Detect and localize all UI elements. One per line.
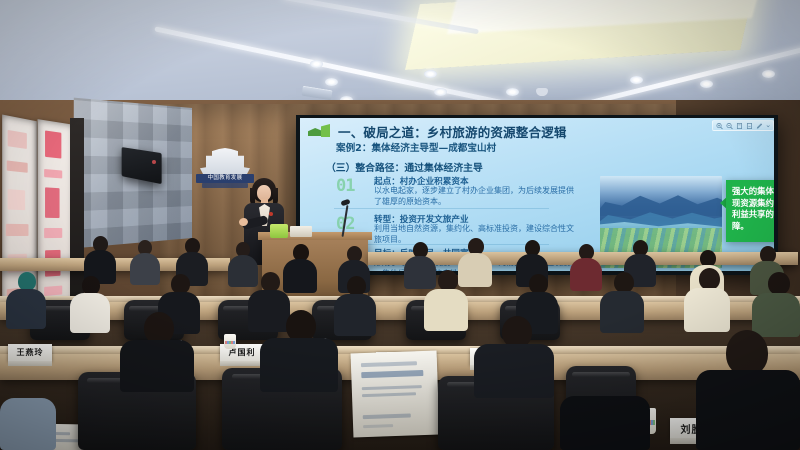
slide-section-heading: （三）整合路径：通过集体经济主导 <box>326 160 483 174</box>
downlight-icon <box>424 70 437 78</box>
downlight-icon <box>700 80 713 88</box>
attendee-foreground <box>120 312 194 386</box>
pen-icon[interactable] <box>756 122 763 130</box>
downlight-icon <box>762 70 775 78</box>
downlight-icon <box>434 88 447 96</box>
list-item-number: 01 <box>336 176 354 196</box>
slide-title: 一、破局之道：乡村旅游的资源整合逻辑 <box>308 122 748 139</box>
attendee-foreground <box>474 316 554 394</box>
page-prev-icon[interactable] <box>736 122 743 130</box>
zoom-out-icon[interactable] <box>726 122 733 130</box>
paper-cup <box>224 334 236 349</box>
page-next-icon[interactable] <box>746 122 753 130</box>
attendee <box>684 268 730 332</box>
attendee-foreground <box>560 396 650 450</box>
attendee <box>752 272 800 336</box>
zoom-in-icon[interactable] <box>716 122 723 130</box>
attendee <box>6 272 46 328</box>
attendee <box>600 272 644 332</box>
slide-callout-box: 强大的集体经济是实现资源集约化开发和利益共享的有力保障。 <box>726 180 774 242</box>
attendee <box>130 240 160 284</box>
attendee-foreground <box>696 330 800 450</box>
attendee <box>424 270 468 330</box>
downlight-icon <box>310 60 323 68</box>
handout-document[interactable] <box>351 351 440 438</box>
callout-text: 强大的集体经济是实现资源集约化开发和利益共享的有力保障。 <box>732 186 774 232</box>
chevron-down-icon[interactable] <box>766 122 770 130</box>
emblem-building-icon <box>200 148 250 174</box>
conference-room-photo: 中国教育发展 一、破局之道：乡村旅游的资源整合逻辑 案例2：集体经济主导型—成都… <box>0 0 800 450</box>
slide-subtitle: 案例2：集体经济主导型—成都宝山村 <box>336 140 496 154</box>
downlight-icon <box>630 76 643 84</box>
podium-green-box <box>270 224 288 238</box>
attendee <box>70 276 110 332</box>
attendee-foreground <box>260 310 338 388</box>
attendee <box>570 244 602 290</box>
attendee <box>334 276 376 334</box>
slide-toolbar[interactable] <box>712 120 774 131</box>
podium-papers <box>290 226 312 237</box>
downlight-icon <box>506 88 519 96</box>
nameplate: 王燕玲 <box>8 344 52 361</box>
downlight-icon <box>325 78 338 86</box>
attendee-foreground <box>0 398 56 450</box>
lapel-pin-icon <box>269 212 273 216</box>
speaker-led-icon <box>152 160 156 164</box>
list-item-body: 以水电起家，逐步建立了村办企业集团，为后续发展提供了雄厚的原始资本。 <box>374 186 574 207</box>
